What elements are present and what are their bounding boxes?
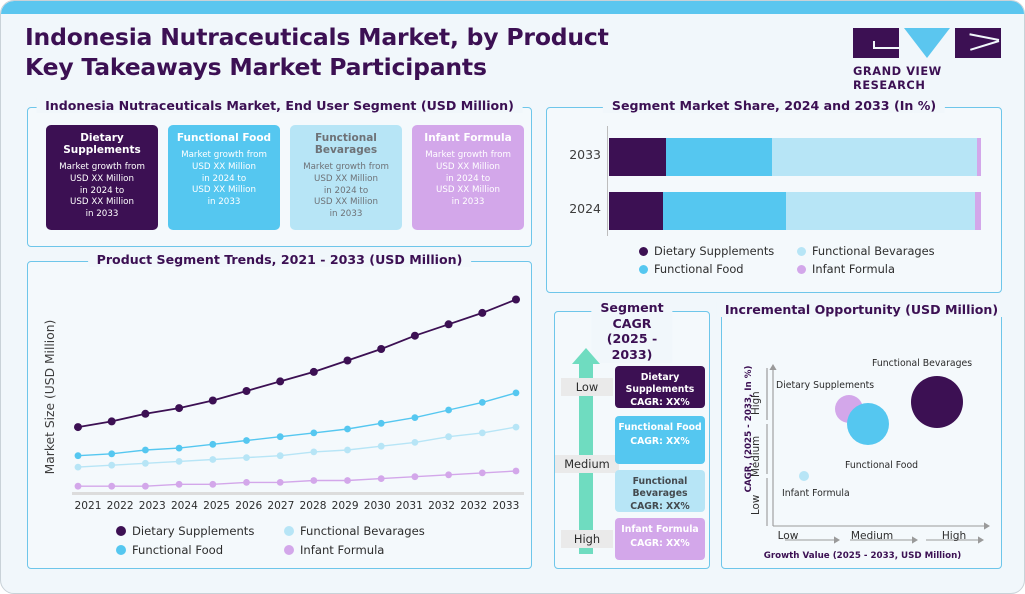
trend-baseline — [72, 492, 524, 495]
legend-label: Infant Formula — [300, 543, 384, 557]
legend-label: Functional Food — [654, 262, 744, 276]
trend-x-tick: 2025 — [201, 500, 233, 512]
trend-data-point — [276, 377, 284, 385]
cagr-scale-medium: Medium — [555, 455, 619, 473]
segment-card-list: Dietary SupplementsMarket growth fromUSD… — [46, 125, 524, 230]
trend-data-point — [74, 423, 82, 431]
bubble-point — [911, 376, 963, 428]
trend-data-point — [277, 452, 284, 459]
cagr-box-value: CAGR: XX% — [617, 436, 703, 447]
trend-data-point — [513, 424, 520, 431]
trend-x-tick: 2023 — [136, 500, 168, 512]
trend-data-point — [378, 420, 385, 427]
trend-data-point — [142, 447, 149, 454]
bubble-point — [799, 471, 809, 481]
trend-data-point — [277, 479, 284, 486]
legend-item: Infant Formula — [284, 543, 444, 557]
bubble-point-label: Functional Food — [845, 460, 918, 471]
cagr-box-name: Functional Bevarages — [617, 476, 703, 499]
cagr-box-name: Infant Formula — [617, 524, 703, 536]
share-segment — [786, 192, 975, 230]
trend-data-point — [512, 296, 520, 304]
bubble-axis-arrow-icon — [912, 536, 918, 543]
trend-data-point — [378, 443, 385, 450]
trend-data-point — [75, 464, 82, 471]
trend-data-point — [209, 456, 216, 463]
trend-data-point — [175, 404, 183, 412]
cagr-box-name: Functional Food — [617, 422, 703, 434]
bubble-point-label: Infant Formula — [782, 488, 850, 499]
bubble-point-label: Functional Bevarages — [872, 358, 972, 369]
segment-card-0: Dietary SupplementsMarket growth fromUSD… — [46, 125, 158, 230]
trend-data-point — [142, 483, 149, 490]
trend-data-point — [344, 477, 351, 484]
legend-item: Functional Bevarages — [284, 524, 444, 538]
trend-line-chart — [72, 284, 524, 499]
trend-data-point — [209, 397, 217, 405]
trend-data-point — [445, 433, 452, 440]
segment-cagr-title: Segment CAGR (2025 - 2033) — [591, 300, 672, 363]
infographic-page: Indonesia Nutraceuticals Market, by Prod… — [0, 0, 1025, 594]
trend-data-point — [108, 462, 115, 469]
trend-data-point — [176, 458, 183, 465]
segment-card-name: Functional Bevarages — [294, 132, 398, 156]
incremental-opportunity-panel: Incremental Opportunity (USD Million) CA… — [721, 311, 1002, 569]
trend-data-point — [344, 426, 351, 433]
cagr-scale-low: Low — [561, 378, 613, 396]
trend-data-point — [176, 481, 183, 488]
trend-x-tick: 2026 — [233, 500, 265, 512]
trend-data-point — [344, 357, 352, 365]
trend-data-point — [445, 407, 452, 414]
share-segment — [977, 138, 981, 176]
product-segment-trends-title: Product Segment Trends, 2021 - 2033 (USD… — [88, 252, 472, 267]
trend-x-tick: 2024 — [168, 500, 200, 512]
trend-x-tick: 2031 — [393, 500, 425, 512]
trend-data-point — [445, 471, 452, 478]
trend-data-point — [243, 454, 250, 461]
trend-data-point — [378, 475, 385, 482]
cagr-box-0: Dietary SupplementsCAGR: XX% — [615, 366, 705, 408]
legend-dot-icon — [284, 545, 294, 555]
trend-data-point — [513, 468, 520, 475]
share-segment — [609, 192, 663, 230]
segment-card-body: Market growth fromUSD XX Millionin 2024 … — [416, 150, 520, 209]
logo-g-icon — [853, 28, 899, 58]
trend-data-point — [209, 441, 216, 448]
trend-data-point — [310, 449, 317, 456]
cagr-box-value: CAGR: XX% — [617, 501, 703, 512]
legend-item: Functional Food — [639, 262, 797, 276]
trend-data-point — [479, 399, 486, 406]
page-header: Indonesia Nutraceuticals Market, by Prod… — [25, 23, 1005, 85]
cagr-box-3: Infant FormulaCAGR: XX% — [615, 518, 705, 560]
segment-card-body: Market growth fromUSD XX Millionin 2024 … — [50, 162, 154, 221]
trend-data-point — [243, 479, 250, 486]
end-user-segment-panel: Indonesia Nutraceuticals Market, End Use… — [27, 107, 532, 247]
legend-dot-icon — [116, 526, 126, 536]
share-segment — [772, 138, 977, 176]
legend-dot-icon — [284, 526, 294, 536]
legend-label: Dietary Supplements — [654, 244, 774, 258]
market-share-legend: Dietary SupplementsFunctional BevaragesF… — [639, 244, 957, 276]
share-bar-2024 — [609, 192, 981, 230]
segment-cagr-panel: Segment CAGR (2025 - 2033) Low Medium Hi… — [554, 311, 710, 569]
trend-data-point — [108, 417, 116, 425]
logo-r-icon — [955, 28, 1001, 58]
legend-item: Infant Formula — [797, 262, 957, 276]
legend-item: Functional Bevarages — [797, 244, 957, 258]
segment-card-1: Functional FoodMarket growth fromUSD XX … — [168, 125, 280, 230]
legend-label: Dietary Supplements — [132, 524, 254, 538]
legend-dot-icon — [639, 247, 648, 256]
trend-data-point — [479, 470, 486, 477]
legend-label: Infant Formula — [812, 262, 895, 276]
logo-wordmark: GRAND VIEW RESEARCH — [853, 64, 1005, 92]
bubble-axis-arrow-icon — [984, 522, 990, 529]
trend-data-point — [344, 447, 351, 454]
bubble-axis-arrow-icon — [834, 536, 840, 543]
end-user-segment-title: Indonesia Nutraceuticals Market, End Use… — [36, 98, 523, 113]
share-segment — [663, 192, 786, 230]
market-share-plot: 2033 2024 — [607, 126, 987, 236]
segment-cagr-title-line2: (2025 - 2033) — [600, 331, 663, 362]
legend-label: Functional Bevarages — [300, 524, 425, 538]
trend-data-point — [412, 414, 419, 421]
grand-view-research-logo: GRAND VIEW RESEARCH — [853, 28, 1005, 92]
bubble-axis-arrow-icon — [769, 364, 776, 370]
legend-label: Functional Food — [132, 543, 223, 557]
bubble-point-label: Dietary Supplements — [776, 380, 874, 391]
trend-x-tick: 2030 — [361, 500, 393, 512]
legend-dot-icon — [797, 247, 806, 256]
segment-card-body: Market growth fromUSD XX Millionin 2024 … — [294, 162, 398, 221]
segment-card-body: Market growth fromUSD XX Millionin 2024 … — [172, 150, 276, 209]
trend-data-point — [141, 410, 149, 418]
segment-market-share-title: Segment Market Share, 2024 and 2033 (In … — [603, 98, 945, 113]
trend-data-point — [75, 452, 82, 459]
trend-data-point — [142, 460, 149, 467]
legend-dot-icon — [639, 265, 648, 274]
trend-data-point — [277, 433, 284, 440]
top-accent-bar — [1, 1, 1025, 14]
segment-card-2: Functional BevaragesMarket growth fromUS… — [290, 125, 402, 230]
share-segment — [609, 138, 666, 176]
legend-item: Dietary Supplements — [639, 244, 797, 258]
segment-card-name: Dietary Supplements — [50, 132, 154, 156]
trend-data-point — [243, 387, 251, 395]
trend-x-tick: 2029 — [329, 500, 361, 512]
trend-x-tick: 2032 — [458, 500, 490, 512]
legend-dot-icon — [116, 545, 126, 555]
legend-label: Functional Bevarages — [812, 244, 935, 258]
share-tick-2024: 2024 — [555, 201, 601, 216]
legend-item: Functional Food — [116, 543, 284, 557]
bubble-y-tick: Low — [750, 484, 766, 526]
bubble-x-tick: Medium — [844, 530, 900, 542]
product-segment-trends-panel: Product Segment Trends, 2021 - 2033 (USD… — [27, 261, 532, 569]
cagr-box-2: Functional BevaragesCAGR: XX% — [615, 470, 705, 512]
segment-market-share-panel: Segment Market Share, 2024 and 2033 (In … — [546, 107, 1002, 293]
logo-marks — [853, 28, 1005, 58]
share-segment — [975, 192, 981, 230]
trend-data-point — [445, 320, 453, 328]
legend-item: Dietary Supplements — [116, 524, 284, 538]
bubble-y-tick: High — [750, 382, 766, 424]
trend-data-point — [75, 483, 82, 490]
trend-data-point — [108, 450, 115, 457]
trend-data-point — [310, 477, 317, 484]
trend-data-point — [479, 430, 486, 437]
trend-y-axis-label: Market Size (USD Million) — [43, 312, 57, 482]
trend-data-point — [243, 437, 250, 444]
logo-v-triangle-icon — [904, 28, 950, 58]
segment-cagr-title-line1: Segment CAGR — [600, 300, 663, 331]
trend-data-point — [209, 481, 216, 488]
trend-data-point — [411, 332, 419, 340]
cagr-scale-high: High — [561, 530, 613, 548]
trend-data-point — [176, 445, 183, 452]
share-segment — [666, 138, 772, 176]
trend-data-point — [513, 390, 520, 397]
cagr-box-1: Functional FoodCAGR: XX% — [615, 416, 705, 464]
share-tick-2033: 2033 — [555, 147, 601, 162]
segment-card-name: Infant Formula — [416, 132, 520, 144]
trend-x-axis-labels: 2021202220232024202520262027202820292030… — [72, 500, 522, 512]
bubble-x-tick: Low — [760, 530, 816, 542]
cagr-box-value: CAGR: XX% — [617, 397, 703, 408]
legend-dot-icon — [797, 265, 806, 274]
share-bar-2033 — [609, 138, 981, 176]
bubble-x-tick: High — [926, 530, 982, 542]
trend-x-tick: 2032 — [426, 500, 458, 512]
bubble-y-tick: Medium — [750, 430, 766, 482]
trend-x-tick: 2027 — [265, 500, 297, 512]
trend-data-point — [310, 430, 317, 437]
segment-card-3: Infant FormulaMarket growth fromUSD XX M… — [412, 125, 524, 230]
trend-line-1 — [78, 393, 516, 456]
trend-data-point — [108, 483, 115, 490]
bubble-point — [847, 403, 889, 445]
segment-card-name: Functional Food — [172, 132, 276, 144]
cagr-box-name: Dietary Supplements — [617, 372, 703, 395]
trend-data-point — [310, 368, 318, 376]
trend-data-point — [377, 345, 385, 353]
trend-data-point — [412, 439, 419, 446]
trend-data-point — [412, 473, 419, 480]
trend-x-tick: 2022 — [104, 500, 136, 512]
cagr-box-value: CAGR: XX% — [617, 538, 703, 549]
trend-x-tick: 2028 — [297, 500, 329, 512]
trend-data-point — [478, 309, 486, 317]
trend-x-tick: 2021 — [72, 500, 104, 512]
trend-x-tick: 2033 — [490, 500, 522, 512]
trend-legend: Dietary SupplementsFunctional BevaragesF… — [116, 524, 444, 557]
